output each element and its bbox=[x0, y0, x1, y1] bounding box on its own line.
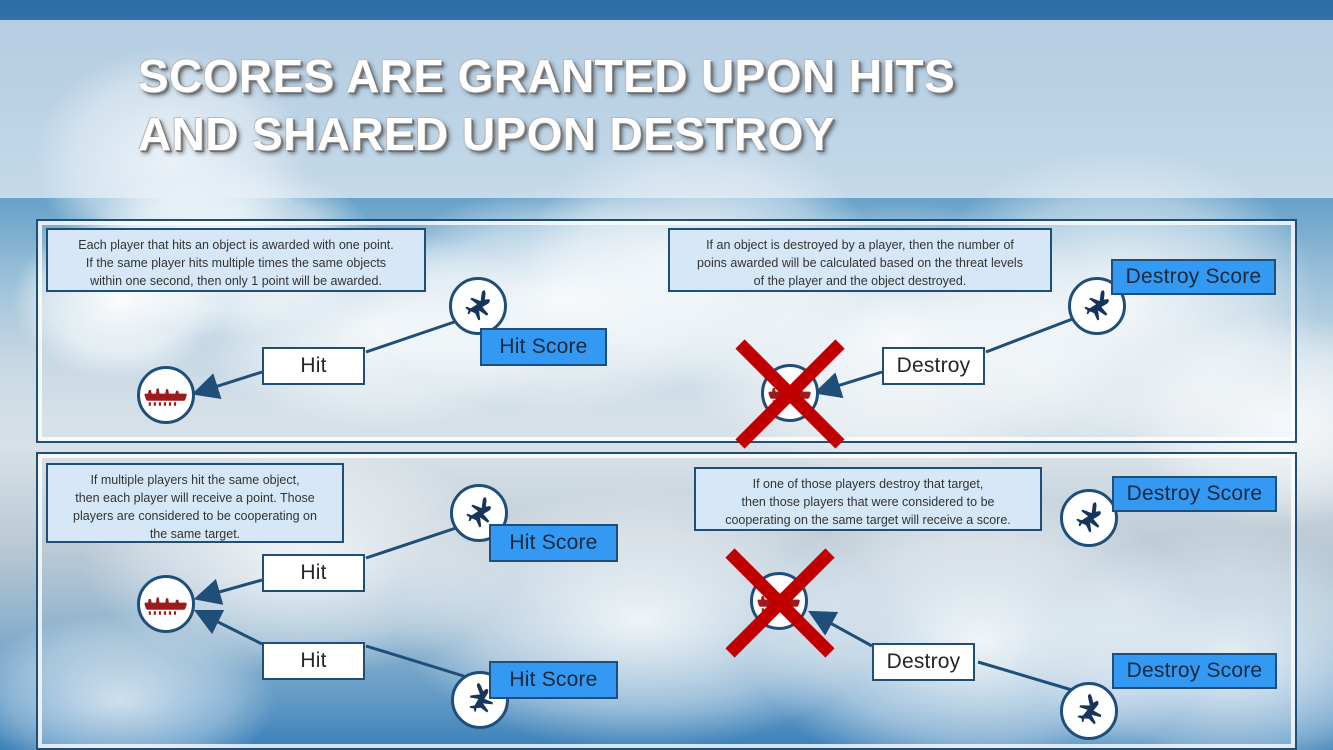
jet-icon bbox=[1066, 495, 1112, 541]
destroy-label-2[interactable]: Destroy bbox=[872, 643, 975, 681]
shared-destroy-note: If one of those players destroy that tar… bbox=[694, 467, 1042, 531]
hit-label-1[interactable]: Hit bbox=[262, 347, 365, 385]
hit-label-2[interactable]: Hit bbox=[262, 554, 365, 592]
jet-icon bbox=[455, 283, 501, 329]
player-jet-token-5[interactable] bbox=[1060, 489, 1118, 547]
destroyed-ship-token-2[interactable] bbox=[750, 572, 808, 630]
destroy-rule-note: If an object is destroyed by a player, t… bbox=[668, 228, 1052, 292]
page-title: SCORES ARE GRANTED UPON HITS AND SHARED … bbox=[138, 48, 1238, 163]
multi-hit-note: If multiple players hit the same object,… bbox=[46, 463, 344, 543]
hit-label-3[interactable]: Hit bbox=[262, 642, 365, 680]
target-ship-token-2[interactable] bbox=[137, 575, 195, 633]
ship-icon bbox=[143, 380, 189, 410]
hit-rule-note: Each player that hits an object is award… bbox=[46, 228, 426, 292]
hit-score-label-1[interactable]: Hit Score bbox=[480, 328, 607, 366]
destroy-score-label-2[interactable]: Destroy Score bbox=[1112, 476, 1277, 512]
player-jet-token-1[interactable] bbox=[449, 277, 507, 335]
player-jet-token-6[interactable] bbox=[1060, 682, 1118, 740]
destroyed-ship-token-1[interactable] bbox=[761, 364, 819, 422]
slide-canvas: SCORES ARE GRANTED UPON HITS AND SHARED … bbox=[0, 0, 1333, 750]
hit-score-label-2[interactable]: Hit Score bbox=[489, 524, 618, 562]
destroy-label-1[interactable]: Destroy bbox=[882, 347, 985, 385]
target-ship-token-1[interactable] bbox=[137, 366, 195, 424]
destroy-score-label-3[interactable]: Destroy Score bbox=[1112, 653, 1277, 689]
destroy-score-label-1[interactable]: Destroy Score bbox=[1111, 259, 1276, 295]
ship-icon bbox=[143, 589, 189, 619]
ship-icon bbox=[767, 378, 813, 408]
ship-icon bbox=[756, 586, 802, 616]
jet-icon bbox=[1066, 688, 1112, 734]
hit-score-label-3[interactable]: Hit Score bbox=[489, 661, 618, 699]
